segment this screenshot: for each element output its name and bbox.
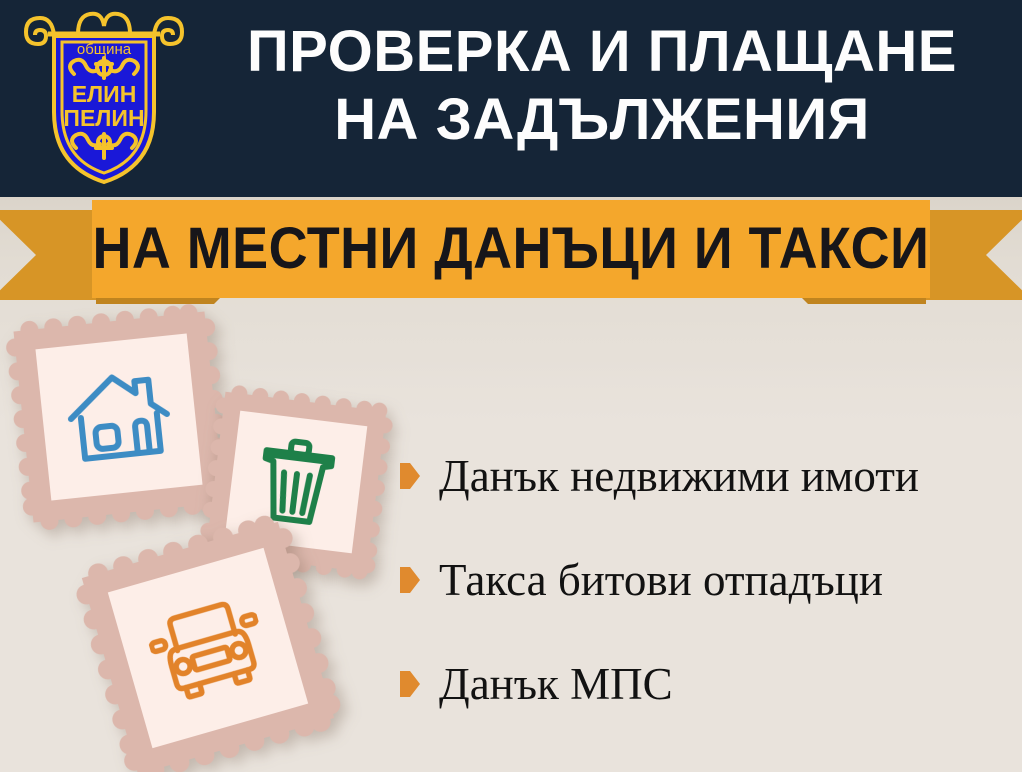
header-banner: община ЕЛИН ПЕЛИН ПРОВЕРКА И ПЛАЩАНЕ НА … bbox=[0, 0, 1022, 197]
stamp-border-shape bbox=[4, 302, 235, 533]
logo-word-obshtina: община bbox=[77, 41, 132, 58]
logo-word-pelin: ПЕЛИН bbox=[63, 105, 144, 131]
ribbon-label: НА МЕСТНИ ДАНЪЦИ И ТАКСИ bbox=[93, 219, 930, 279]
page-title: ПРОВЕРКА И ПЛАЩАНЕ НА ЗАДЪЛЖЕНИЯ bbox=[196, 18, 1008, 154]
arrow-bullet-icon bbox=[400, 463, 420, 489]
poster-canvas: община ЕЛИН ПЕЛИН ПРОВЕРКА И ПЛАЩАНЕ НА … bbox=[0, 0, 1022, 772]
ribbon-band: НА МЕСТНИ ДАНЪЦИ И ТАКСИ bbox=[92, 200, 930, 298]
list-item-label: Такса битови отпадъци bbox=[439, 555, 883, 605]
municipality-logo: община ЕЛИН ПЕЛИН bbox=[18, 8, 190, 190]
page-title-line-2: НА ЗАДЪЛЖЕНИЯ bbox=[196, 86, 1008, 154]
stamp-card-house bbox=[4, 302, 235, 533]
subtitle-ribbon: НА МЕСТНИ ДАНЪЦИ И ТАКСИ bbox=[0, 196, 1022, 314]
page-title-line-1: ПРОВЕРКА И ПЛАЩАНЕ bbox=[196, 18, 1008, 86]
list-item-label: Данък МПС bbox=[439, 659, 673, 709]
coat-of-arms-icon: община ЕЛИН ПЕЛИН bbox=[18, 8, 190, 190]
list-item-label: Данък недвижими имоти bbox=[439, 451, 919, 501]
logo-word-elin: ЕЛИН bbox=[72, 81, 137, 107]
tax-types-list: Данък недвижими имоти Такса битови отпад… bbox=[400, 424, 1012, 736]
list-item[interactable]: Такса битови отпадъци bbox=[400, 528, 1012, 632]
list-item[interactable]: Данък МПС bbox=[400, 632, 1012, 736]
arrow-bullet-icon bbox=[400, 567, 420, 593]
arrow-bullet-icon bbox=[400, 671, 420, 697]
list-item[interactable]: Данък недвижими имоти bbox=[400, 424, 1012, 528]
